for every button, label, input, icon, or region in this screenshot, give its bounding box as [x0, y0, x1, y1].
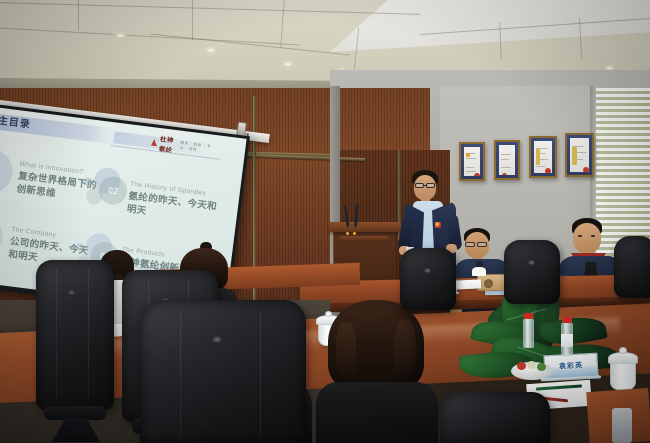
logo-mark-icon — [151, 139, 158, 147]
ceiling-downlight — [114, 33, 127, 39]
bottle-cap — [562, 317, 572, 323]
slide-title: 主目录 — [0, 114, 32, 134]
placard-name-text: 袁彩英 — [559, 360, 583, 371]
ceiling-seam — [78, 0, 79, 30]
ceiling-seam — [192, 0, 193, 40]
chair-seat — [44, 406, 106, 420]
office-chair-foreground-right[interactable] — [440, 392, 550, 443]
chair-base — [52, 418, 100, 442]
certificate-paper — [499, 145, 515, 175]
office-chair-back[interactable] — [504, 240, 560, 304]
podium-top — [329, 222, 401, 232]
ceiling-downlight — [205, 48, 217, 53]
ceiling-downlight — [282, 62, 294, 67]
logo-tagline: 服务 · 创新 · 专业 · 诚信 — [179, 141, 213, 155]
slide-item-02: The History of Spandex 氨纶的昨天、今天和明天 — [126, 181, 234, 229]
tissue-puff — [472, 267, 486, 276]
hair-highlight — [336, 322, 356, 380]
certificate-paper — [464, 147, 480, 176]
tissue-box-emblem — [484, 279, 493, 288]
glasses-bridge — [424, 185, 427, 186]
fruit-piece — [537, 363, 546, 371]
office-chair-back[interactable] — [400, 248, 456, 310]
teacup-knob — [619, 347, 627, 354]
certificate-paper — [570, 138, 589, 172]
eye — [578, 235, 582, 237]
attendee-woman-foreground — [320, 300, 438, 443]
framed-certificate-3 — [529, 136, 557, 178]
attendee-black-top — [316, 382, 438, 443]
certificate-paper — [534, 141, 552, 173]
eye — [591, 235, 595, 237]
glasses-icon — [415, 183, 424, 188]
podium-shelf — [340, 236, 388, 242]
office-chair-foreground-center[interactable] — [140, 300, 306, 443]
office-chair-back[interactable] — [614, 236, 650, 298]
bottle-cap — [524, 313, 533, 319]
metal-object — [612, 408, 632, 443]
framed-certificate-2 — [494, 140, 520, 180]
lapel-pin-badge — [435, 222, 441, 228]
bottle-label — [561, 334, 573, 347]
water-bottle[interactable] — [523, 318, 534, 348]
office-chair-foreground-left[interactable] — [36, 260, 114, 443]
framed-certificate-4 — [565, 133, 594, 177]
hair-highlight — [394, 320, 416, 382]
glasses-icon — [477, 242, 487, 247]
glasses-icon — [465, 242, 475, 247]
slide-bubble-decor — [0, 147, 15, 196]
glasses-icon — [426, 183, 435, 188]
fruit-piece — [517, 362, 526, 370]
framed-certificate-1 — [459, 142, 485, 181]
attendee-head — [573, 223, 601, 253]
podium-indicator-light — [346, 232, 349, 235]
slide-bubble-decor — [0, 212, 5, 259]
teacup[interactable] — [610, 360, 636, 390]
podium-indicator-light — [353, 232, 356, 235]
fruit-piece — [527, 361, 536, 369]
conference-room-photo: 主目录 杜神氨纶 服务 · 创新 · 专业 · 诚信 01 What is in… — [0, 0, 650, 443]
